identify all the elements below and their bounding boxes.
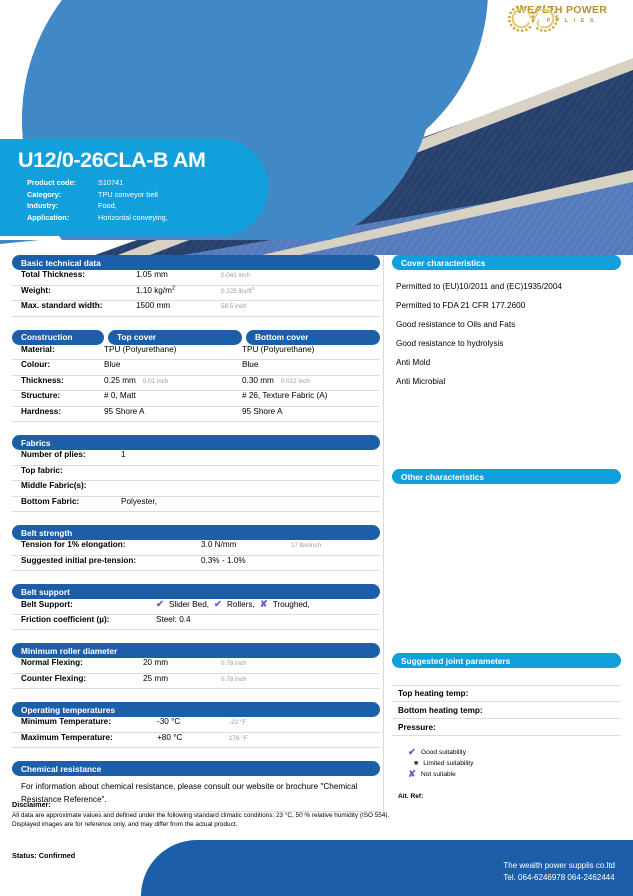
row-value: Steel: 0.4 [156, 615, 191, 624]
row-value: 0.3% - 1.0% [201, 556, 291, 565]
row-label: Thickness: [21, 376, 104, 385]
section-header-operating-temperatures: Operating temperatures [12, 702, 380, 717]
bottom-cover-cell: # 26, Texture Fabric (A) [242, 391, 380, 400]
right-column: Cover characteristics Permitted to (EU)1… [392, 255, 621, 800]
legend-item: ✔ Good suitability [408, 747, 621, 758]
table-row: Minimum Temperature: -30 °C -22 °F [12, 717, 380, 733]
section-header-fabrics: Fabrics [12, 435, 380, 450]
table-row: Top fabric: [12, 466, 380, 482]
row-label: Total Thickness: [21, 270, 136, 279]
table-row: Weight: 1.10 kg/m2 0.225 lbs/ft2 [12, 286, 380, 302]
meta-row: Product code: S10741 [27, 177, 168, 189]
cross-icon: ✘ [408, 769, 416, 780]
row-label: Max. standard width: [21, 301, 136, 310]
check-icon: ✔ [214, 599, 222, 610]
legend-label: Good suitability [421, 747, 466, 758]
table-row: Hardness: 95 Shore A 95 Shore A [12, 407, 380, 423]
meta-row: Category: TPU conveyor belt [27, 189, 168, 201]
section-header-top-cover: Top cover [108, 330, 242, 345]
suitability-legend: ✔ Good suitability ■ Limited suitability… [392, 736, 621, 780]
row-label: Suggested initial pre-tension: [21, 556, 201, 565]
table-row: Colour: Blue Blue [12, 360, 380, 376]
fabrics-table: Number of plies: 1 Top fabric: Middle Fa… [12, 450, 380, 512]
product-meta-list: Product code: S10741 Category: TPU conve… [27, 177, 168, 223]
table-row: Total Thickness: 1.05 mm 0.041 inch [12, 270, 380, 286]
table-row: Tension for 1% elongation: 3.0 N/mm 17 l… [12, 540, 380, 556]
bottom-cover-cell: 0.30 mm0.012 inch [242, 376, 380, 385]
table-row: Counter Flexing: 25 mm 0.78 inch [12, 674, 380, 690]
meta-value: TPU conveyor belt [98, 189, 158, 201]
row-label: Top heating temp: [398, 689, 468, 698]
meta-row: Application: Horizontal conveying, [27, 212, 168, 224]
row-imperial: 0.78 inch [221, 676, 247, 683]
top-cover-cell: # 0, Matt [104, 391, 242, 400]
list-item: Anti Mold [396, 353, 621, 372]
row-value: Polyester, [121, 497, 157, 506]
row-value: 1500 mm [136, 301, 221, 310]
row-imperial: 0.041 inch [221, 272, 250, 279]
content-columns: Basic technical data Total Thickness: 1.… [0, 255, 633, 830]
row-label: Middle Fabric(s): [21, 481, 121, 490]
row-value: 1.05 mm [136, 270, 221, 279]
footer-contact: The wealth power supplis co.ltd Tel. 064… [503, 860, 615, 884]
row-label: Tension for 1% elongation: [21, 540, 201, 549]
table-row: Maximum Temperature: +80 °C 176 °F [12, 733, 380, 749]
company-logo: WEALTH POWER S U P P L I E S [503, 4, 621, 62]
disclaimer-text: All data are approximate values and defi… [12, 811, 392, 829]
disclaimer-title: Disclaimer: [12, 800, 392, 809]
section-header-suggested-joint-parameters: Suggested joint parameters [392, 653, 621, 668]
table-row: Max. standard width: 1500 mm 58.5 inch [12, 301, 380, 317]
legend-item: ✘ Not suitable [408, 769, 621, 780]
table-row: Pressure: [392, 719, 621, 736]
row-label: Bottom heating temp: [398, 706, 483, 715]
row-label: Number of plies: [21, 450, 121, 459]
belt-support-table: Belt Support: ✔ Slider Bed, ✔ Rollers, ✘… [12, 599, 380, 630]
row-value: 1.10 kg/m2 [136, 286, 221, 295]
row-imperial: 17 lbs/inch [291, 542, 321, 549]
row-imperial: 0.225 lbs/ft2 [221, 288, 254, 295]
check-icon: ✔ [408, 747, 416, 758]
table-row: Bottom Fabric: Polyester, [12, 497, 380, 513]
page-footer: The wealth power supplis co.ltd Tel. 064… [0, 840, 633, 896]
joint-parameters-table: Top heating temp: Bottom heating temp: P… [392, 685, 621, 736]
section-header-belt-support: Belt support [12, 584, 380, 599]
check-icon: ✔ [156, 599, 164, 610]
section-header-construction: Construction [12, 330, 104, 345]
belt-support-options: ✔ Slider Bed, ✔ Rollers, ✘ Troughed, [156, 599, 310, 610]
list-item: Good resistance to Oils and Fats [396, 315, 621, 334]
row-value: +80 °C [157, 733, 229, 742]
other-characteristics-list [392, 484, 621, 491]
top-cover-cell: 0.25 mm0.01 inch [104, 376, 242, 385]
operating-temperatures-table: Minimum Temperature: -30 °C -22 °F Maxim… [12, 717, 380, 748]
meta-label: Application: [27, 212, 98, 224]
section-header-minimum-roller-diameter: Minimum roller diameter [12, 643, 380, 658]
product-title-band: U12/0-26CLA-B AM Product code: S10741 Ca… [0, 139, 268, 236]
row-label: Hardness: [21, 407, 104, 416]
infinity-loop-logo-icon [503, 4, 563, 37]
legend-label: Limited suitability [423, 758, 473, 769]
row-label: Maximum Temperature: [21, 733, 157, 742]
basic-technical-data-table: Total Thickness: 1.05 mm 0.041 inch Weig… [12, 270, 380, 317]
table-row: Middle Fabric(s): [12, 481, 380, 497]
section-header-belt-strength: Belt strength [12, 525, 380, 540]
table-row: Number of plies: 1 [12, 450, 380, 466]
list-item: Good resistance to hydrolysis [396, 334, 621, 353]
legend-label: Not suitable [421, 769, 456, 780]
square-icon: ■ [414, 758, 418, 769]
footer-phone: Tel. 064-6246978 064-2462444 [503, 872, 615, 884]
belt-strength-table: Tension for 1% elongation: 3.0 N/mm 17 l… [12, 540, 380, 571]
table-row: Material: TPU (Polyurethane) TPU (Polyur… [12, 345, 380, 361]
row-label: Colour: [21, 360, 104, 369]
left-column: Basic technical data Total Thickness: 1.… [12, 255, 380, 812]
column-divider [383, 255, 384, 815]
meta-label: Category: [27, 189, 98, 201]
section-header-basic-technical-data: Basic technical data [12, 255, 380, 270]
section-header-bottom-cover: Bottom cover [246, 330, 380, 345]
table-row: Thickness: 0.25 mm0.01 inch 0.30 mm0.012… [12, 376, 380, 392]
row-value: -30 °C [157, 717, 229, 726]
section-header-cover-characteristics: Cover characteristics [392, 255, 621, 270]
row-value: 20 mm [143, 658, 221, 667]
row-label: Counter Flexing: [21, 674, 143, 683]
list-item: Anti Microbial [396, 372, 621, 391]
row-label: Pressure: [398, 723, 436, 732]
meta-value: Horizontal conveying, [98, 212, 168, 224]
meta-label: Product code: [27, 177, 98, 189]
cover-characteristics-list: Permitted to (EU)10/2011 and (EC)1935/20… [392, 270, 621, 391]
row-imperial: -22 °F [229, 719, 246, 726]
section-header-other-characteristics: Other characteristics [392, 469, 621, 484]
row-label: Structure: [21, 391, 104, 400]
row-label: Normal Flexing: [21, 658, 143, 667]
alt-ref-label: Alt. Ref: [392, 780, 621, 800]
table-row: Top heating temp: [392, 685, 621, 702]
row-label: Belt Support: [21, 600, 156, 609]
table-row: Belt Support: ✔ Slider Bed, ✔ Rollers, ✘… [12, 599, 380, 615]
page-title: U12/0-26CLA-B AM [18, 148, 206, 173]
disclaimer-block: Disclaimer: All data are approximate val… [12, 800, 392, 829]
bottom-cover-cell: 95 Shore A [242, 407, 380, 416]
table-row: Suggested initial pre-tension: 0.3% - 1.… [12, 556, 380, 572]
row-imperial: 58.5 inch [221, 303, 247, 310]
top-cover-cell: TPU (Polyurethane) [104, 345, 242, 354]
list-item: Permitted to FDA 21 CFR 177.2600 [396, 296, 621, 315]
row-label: Friction coefficient (µ): [21, 615, 156, 624]
row-label: Minimum Temperature: [21, 717, 157, 726]
row-imperial: 0.78 inch [221, 660, 247, 667]
footer-company-name: The wealth power supplis co.ltd [503, 860, 615, 872]
list-item: Permitted to (EU)10/2011 and (EC)1935/20… [396, 277, 621, 296]
meta-row: Industry: Food, [27, 200, 168, 212]
cross-icon: ✘ [260, 599, 268, 610]
support-option-label: Troughed, [273, 600, 310, 609]
top-cover-cell: Blue [104, 360, 242, 369]
top-cover-cell: 95 Shore A [104, 407, 242, 416]
row-label: Bottom Fabric: [21, 497, 121, 506]
row-label: Top fabric: [21, 466, 121, 475]
row-imperial: 176 °F [229, 735, 248, 742]
datasheet-page: WEALTH POWER S U P P L I E S U12/0-26CLA… [0, 0, 633, 896]
bottom-cover-cell: Blue [242, 360, 380, 369]
table-row: Bottom heating temp: [392, 702, 621, 719]
row-value: 3.0 N/mm [201, 540, 291, 549]
row-label: Material: [21, 345, 104, 354]
support-option-label: Rollers, [227, 600, 255, 609]
table-row: Structure: # 0, Matt # 26, Texture Fabri… [12, 391, 380, 407]
legend-item: ■ Limited suitability [408, 758, 621, 769]
meta-value: Food, [98, 200, 117, 212]
row-label: Weight: [21, 286, 136, 295]
table-row: Normal Flexing: 20 mm 0.78 inch [12, 658, 380, 674]
bottom-cover-cell: TPU (Polyurethane) [242, 345, 380, 354]
table-row: Friction coefficient (µ): Steel: 0.4 [12, 615, 380, 631]
support-option-label: Slider Bed, [169, 600, 209, 609]
construction-table: Material: TPU (Polyurethane) TPU (Polyur… [12, 345, 380, 423]
roller-diameter-table: Normal Flexing: 20 mm 0.78 inch Counter … [12, 658, 380, 689]
hero-banner: WEALTH POWER S U P P L I E S U12/0-26CLA… [0, 0, 633, 255]
row-value: 25 mm [143, 674, 221, 683]
section-header-chemical-resistance: Chemical resistance [12, 761, 380, 776]
meta-label: Industry: [27, 200, 98, 212]
row-value: 1 [121, 450, 126, 459]
construction-header-group: Construction Top cover Bottom cover [12, 330, 380, 345]
meta-value: S10741 [98, 177, 123, 189]
